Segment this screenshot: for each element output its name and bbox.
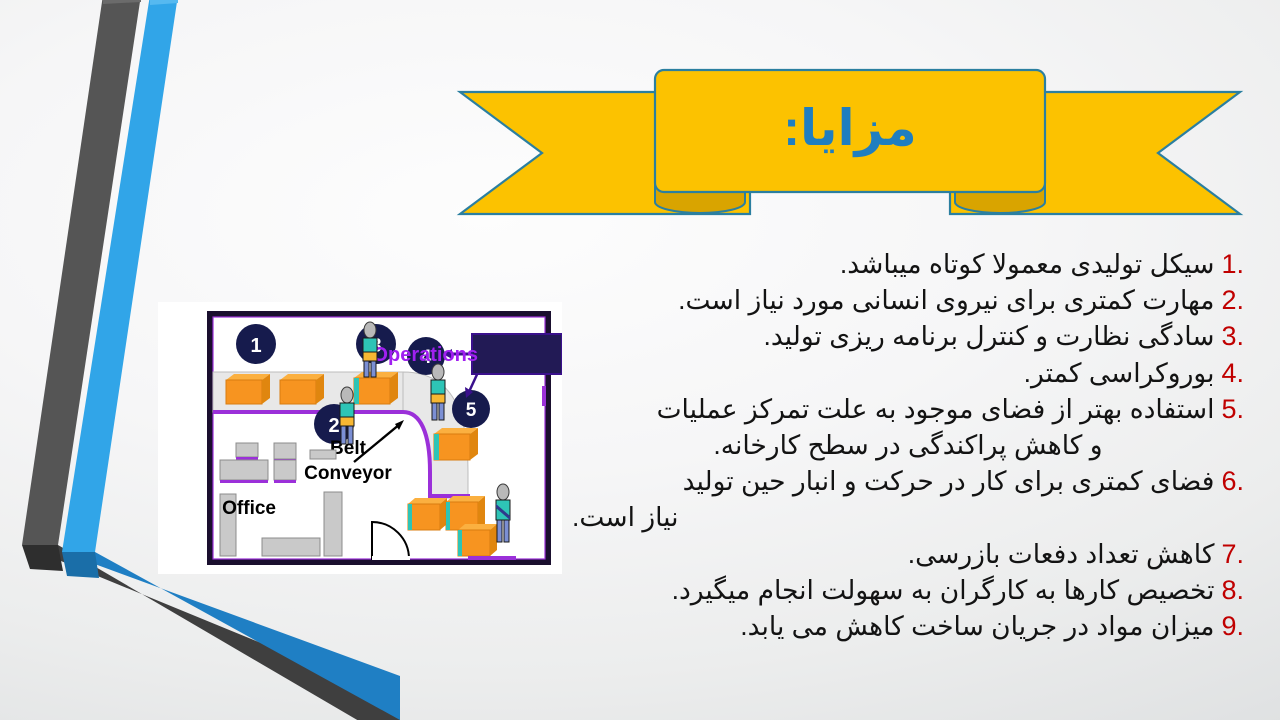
blue-band-lower (62, 552, 400, 720)
list-item-text: استفاده بهتر از فضای موجود به علت تمرکز … (657, 391, 1215, 427)
list-item-number: 8. (1221, 572, 1244, 608)
list-item-number: 6. (1221, 463, 1244, 499)
list-item: 6.فضای کمتری برای کار در حرکت و انبار حی… (572, 463, 1244, 499)
list-item-continuation: نیاز است. (572, 499, 1244, 535)
list-item: 7.کاهش تعداد دفعات بازرسی. (572, 536, 1244, 572)
list-item: 1.سیکل تولیدی معمولا کوتاه میباشد. (572, 246, 1244, 282)
list-item: 4.بوروکراسی کمتر. (572, 355, 1244, 391)
list-item-text: فضای کمتری برای کار در حرکت و انبار حین … (683, 463, 1215, 499)
blue-band-cap (150, 0, 178, 5)
list-item-text: بوروکراسی کمتر. (1024, 355, 1215, 391)
slide-canvas: مزایا: 1.سیکل تولیدی معمولا کوتاه میباشد… (0, 0, 1280, 720)
list-item-continuation: و کاهش پراکندگی در سطح کارخانه. (572, 427, 1244, 463)
list-item-text: تخصیص کارها به کارگران به سهولت انجام می… (672, 572, 1215, 608)
list-item-number: 7. (1221, 536, 1244, 572)
svg-text:5: 5 (466, 400, 477, 421)
page-title: مزایا: (450, 62, 1250, 202)
list-item-number: 2. (1221, 282, 1244, 318)
list-item-number: 1. (1221, 246, 1244, 282)
list-item-text: سیکل تولیدی معمولا کوتاه میباشد. (840, 246, 1215, 282)
svg-text:Conveyor: Conveyor (304, 463, 392, 484)
list-item-number: 9. (1221, 608, 1244, 644)
list-item: 5.استفاده بهتر از فضای موجود به علت تمرک… (572, 391, 1244, 427)
list-item: 9.میزان مواد در جریان ساخت کاهش می یابد. (572, 608, 1244, 644)
svg-text:2: 2 (328, 415, 339, 437)
advantages-list: 1.سیکل تولیدی معمولا کوتاه میباشد.2.مهار… (572, 246, 1244, 644)
list-item-text: میزان مواد در جریان ساخت کاهش می یابد. (740, 608, 1214, 644)
station-bubble-5: 5 (452, 390, 490, 428)
list-item-text: سادگی نظارت و کنترل برنامه ریزی تولید. (764, 318, 1215, 354)
list-item: 2.مهارت کمتری برای نیروی انسانی مورد نیا… (572, 282, 1244, 318)
gray-band-bevel (22, 545, 63, 571)
list-item-text: مهارت کمتری برای نیروی انسانی مورد نیاز … (678, 282, 1214, 318)
gray-band-cap (103, 0, 141, 4)
list-item-number: 5. (1221, 391, 1244, 427)
list-item-number: 4. (1221, 355, 1244, 391)
blue-band-bevel (62, 552, 99, 578)
list-item: 8.تخصیص کارها به کارگران به سهولت انجام … (572, 572, 1244, 608)
list-item-number: 3. (1221, 318, 1244, 354)
office-label: Office (222, 498, 276, 519)
list-item-text: کاهش تعداد دفعات بازرسی. (908, 536, 1215, 572)
operations-label: Operations (372, 344, 478, 366)
gray-band-upper (22, 0, 141, 545)
list-item: 3.سادگی نظارت و کنترل برنامه ریزی تولید. (572, 318, 1244, 354)
title-banner: مزایا: (450, 62, 1250, 232)
svg-text:1: 1 (250, 335, 261, 357)
station-bubble-1: 1 (236, 324, 276, 364)
factory-layout-image: 1 2 3 4 5 (158, 302, 562, 574)
